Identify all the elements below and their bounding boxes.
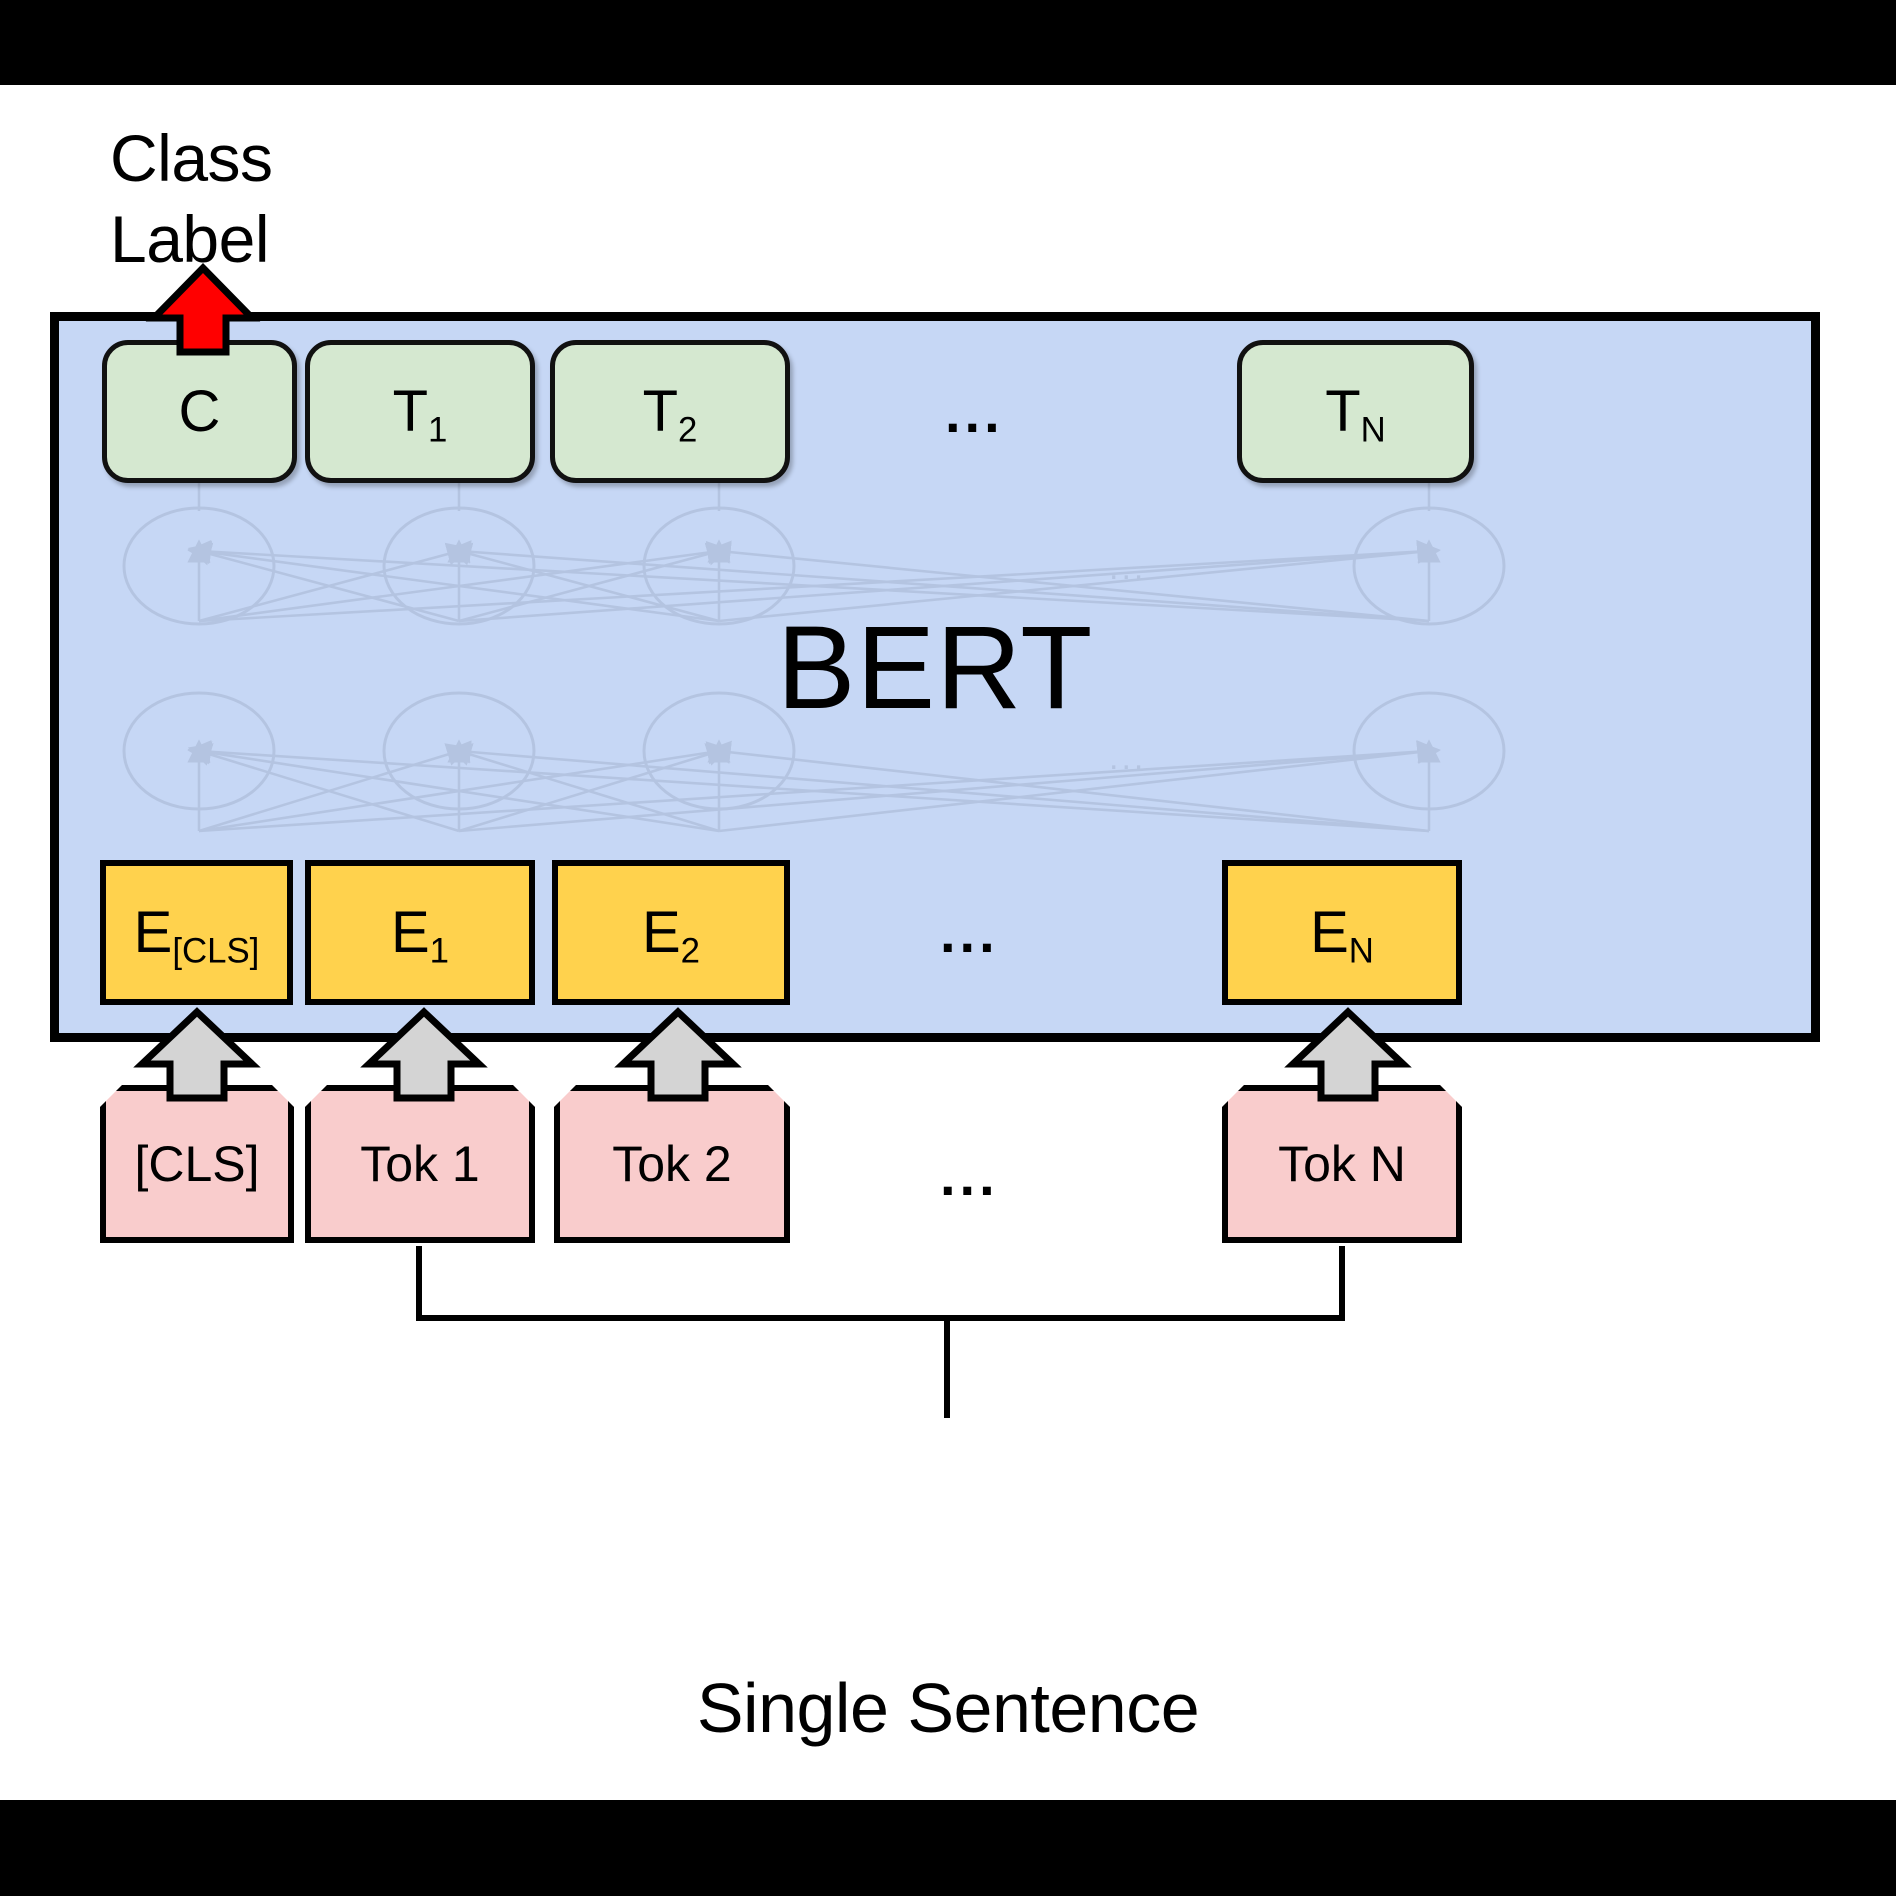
class-label-text: Class Label [110, 118, 450, 279]
embedding-box-EN-label: EN [1310, 899, 1374, 966]
embedding-box-ECLS[interactable]: E[CLS] [100, 860, 293, 1005]
token-box-TOKN-label: Tok N [1278, 1135, 1406, 1193]
embedding-box-E2-label: E2 [642, 899, 700, 966]
svg-text:...: ... [1109, 549, 1146, 587]
token-box-TOK1[interactable]: Tok 1 [305, 1085, 535, 1243]
embedding-box-E1[interactable]: E1 [305, 860, 535, 1005]
embedding-box-E1-label: E1 [391, 899, 449, 966]
output-box-T1-label: T1 [393, 378, 448, 445]
embedding-row-ellipsis: ... [940, 905, 999, 961]
output-box-C[interactable]: C [102, 340, 297, 483]
sentence-caption: Single Sentence [0, 1668, 1896, 1748]
token-box-TOK2[interactable]: Tok 2 [554, 1085, 790, 1243]
token-box-CLS[interactable]: [CLS] [100, 1085, 294, 1243]
embedding-box-E2[interactable]: E2 [552, 860, 790, 1005]
output-box-TN-label: TN [1325, 378, 1386, 445]
token-box-TOK1-label: Tok 1 [360, 1135, 480, 1193]
token-box-TOK2-label: Tok 2 [612, 1135, 732, 1193]
output-box-C-label: C [179, 378, 221, 445]
figure-canvas: Class Label [0, 0, 1896, 1896]
output-row-ellipsis: ... [945, 385, 1004, 441]
token-box-CLS-label: [CLS] [134, 1135, 259, 1193]
token-row-ellipsis: ... [940, 1148, 999, 1204]
class-label-line-2: Label [110, 199, 450, 280]
embedding-box-EN[interactable]: EN [1222, 860, 1462, 1005]
letterbox-bottom [0, 1800, 1896, 1896]
output-box-T2[interactable]: T2 [550, 340, 790, 483]
output-box-TN[interactable]: TN [1237, 340, 1474, 483]
token-box-TOKN[interactable]: Tok N [1222, 1085, 1462, 1243]
output-box-T2-label: T2 [643, 378, 698, 445]
output-box-T1[interactable]: T1 [305, 340, 535, 483]
svg-text:...: ... [1109, 739, 1146, 777]
embedding-box-ECLS-label: E[CLS] [134, 899, 260, 966]
letterbox-top [0, 0, 1896, 85]
class-label-line-1: Class [110, 118, 450, 199]
